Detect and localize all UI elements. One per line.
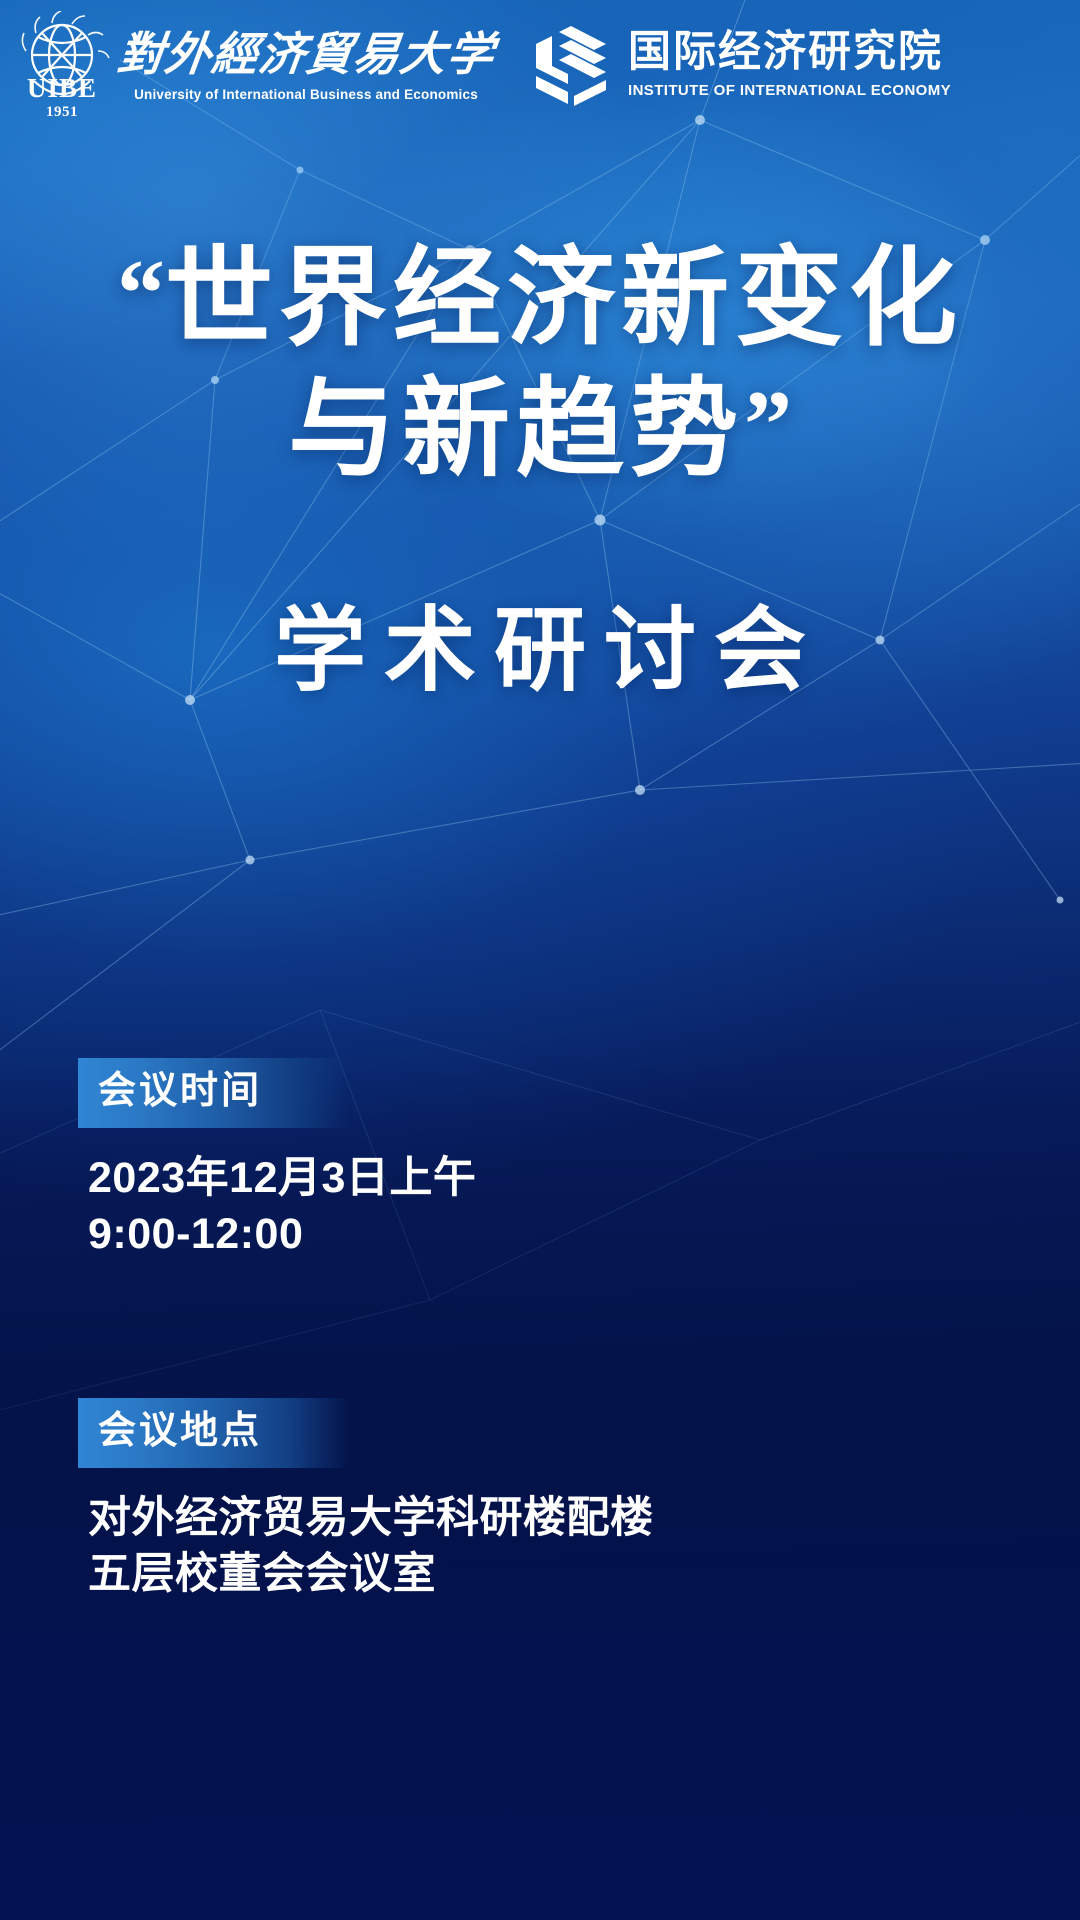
iie-cube-logo-icon [528,22,614,108]
poster-subtitle: 学术研讨会 [0,576,1080,709]
institute-name-cn: 国际经济研究院 [628,31,951,74]
open-quote: “ [117,239,165,346]
svg-text:1951: 1951 [46,104,78,119]
iie-wordmark: 国际经济研究院 INSTITUTE OF INTERNATIONAL ECONO… [628,31,951,99]
university-name-en: University of International Business and… [134,87,478,102]
uibe-wordmark: 對外經济貿易大学 University of International Bus… [118,28,494,102]
meeting-time-label: 会议时间 [78,1058,348,1128]
title-line-1-text: 世界经济新变化 [165,240,963,359]
meeting-time-line-1: 2023年12月3日上午 [88,1150,476,1207]
poster-header: UIBE 1951 對外經济貿易大学 University of Interna… [0,0,1080,130]
uibe-globe-logo-icon: UIBE 1951 [12,11,112,119]
poster-title-block: “世界经济新变化 与新趋势” 学术研讨会 [0,238,1080,709]
title-line-2-text: 与新趋势 [288,371,744,490]
meeting-time-line-2: 9:00-12:00 [88,1206,476,1263]
meeting-place-line-2: 五层校董会会议室 [88,1546,654,1603]
meeting-place-line-1: 对外经济贸易大学科研楼配楼 [88,1490,654,1547]
institute-name-en: INSTITUTE OF INTERNATIONAL ECONOMY [628,82,951,99]
event-poster: UIBE 1951 對外經济貿易大学 University of Interna… [0,0,1080,1920]
meeting-place-block: 会议地点 对外经济贸易大学科研楼配楼 五层校董会会议室 [78,1398,654,1603]
close-quote: ” [744,371,792,478]
title-line-1: “世界经济新变化 [0,238,1080,361]
meeting-time-block: 会议时间 2023年12月3日上午 9:00-12:00 [78,1058,476,1263]
meeting-place-label: 会议地点 [78,1398,348,1468]
meeting-place-value: 对外经济贸易大学科研楼配楼 五层校董会会议室 [78,1490,654,1604]
university-name-cn: 對外經济貿易大学 [115,32,497,78]
svg-text:UIBE: UIBE [27,73,97,103]
title-line-2: 与新趋势” [0,369,1080,492]
meeting-time-value: 2023年12月3日上午 9:00-12:00 [78,1150,476,1264]
